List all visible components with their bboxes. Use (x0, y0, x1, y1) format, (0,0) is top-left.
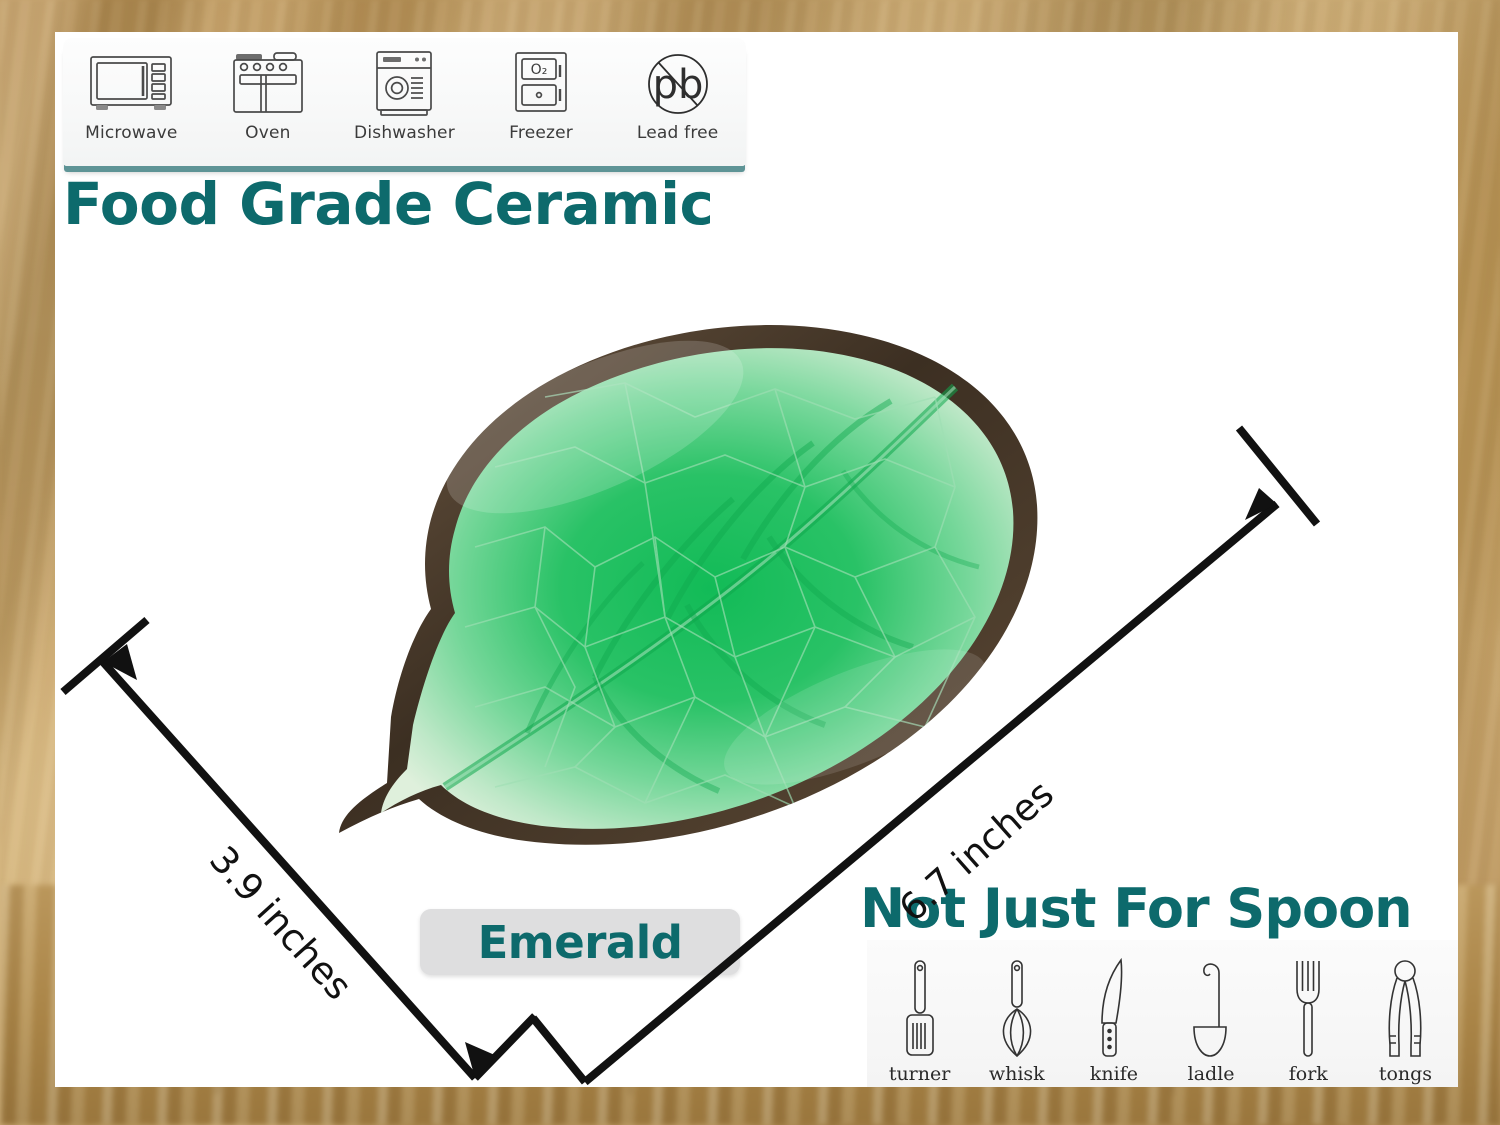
badge-label: Oven (245, 123, 290, 143)
oven-icon (230, 50, 306, 118)
dimension-end-tick-width (1239, 428, 1317, 524)
utensil-label: fork (1289, 1063, 1328, 1085)
badge-lead-free: pb Lead free (609, 38, 746, 143)
badge-label: Dishwasher (354, 123, 455, 143)
dimension-end-tick-height (63, 620, 147, 692)
utensil-whisk: whisk (968, 957, 1065, 1085)
badge-freezer: O₂ Freezer (473, 38, 610, 143)
color-name-badge: Emerald (420, 909, 740, 975)
leaf-dish-product-photo (295, 247, 1075, 867)
badge-microwave: Microwave (63, 38, 200, 143)
badge-oven: Oven (200, 38, 337, 143)
badge-label: Lead free (637, 123, 719, 143)
dishwasher-icon (373, 50, 435, 118)
dimension-vertex-left (475, 1016, 535, 1078)
knife-icon (1091, 957, 1137, 1061)
freezer-icon-text: O₂ (531, 62, 548, 78)
lead-free-icon: pb (642, 50, 714, 118)
microwave-icon (88, 50, 174, 118)
dimension-arrowhead-height (103, 644, 137, 680)
page-title-food-grade: Food Grade Ceramic (63, 170, 713, 238)
utensil-compatibility-strip: turner whisk (867, 940, 1458, 1087)
utensil-knife: knife (1065, 957, 1162, 1085)
utensil-turner: turner (871, 957, 968, 1085)
dimension-vertex-right (533, 1018, 585, 1082)
badge-label: Freezer (509, 123, 573, 143)
utensil-ladle: ladle (1163, 957, 1260, 1085)
ladle-icon (1186, 957, 1236, 1061)
utensil-fork: fork (1260, 957, 1357, 1085)
product-image-panel: Microwave Oven (55, 32, 1458, 1087)
tongs-icon (1380, 957, 1430, 1061)
turner-icon (894, 957, 946, 1061)
utensil-label: turner (889, 1063, 951, 1085)
utensil-label: tongs (1379, 1063, 1432, 1085)
fork-icon (1288, 957, 1328, 1061)
dimension-arrowhead-bottom (465, 1042, 497, 1078)
utensil-tongs: tongs (1357, 957, 1454, 1085)
utensil-label: ladle (1188, 1063, 1235, 1085)
badge-label: Microwave (85, 123, 177, 143)
utensil-label: knife (1090, 1063, 1138, 1085)
feature-badge-strip: Microwave Oven (63, 38, 746, 166)
badge-dishwasher: Dishwasher (336, 38, 473, 143)
freezer-icon: O₂ (512, 50, 570, 118)
color-name-label: Emerald (478, 916, 683, 969)
whisk-icon (993, 957, 1041, 1061)
utensil-label: whisk (989, 1063, 1045, 1085)
dimension-arrowhead-width (1245, 488, 1277, 520)
